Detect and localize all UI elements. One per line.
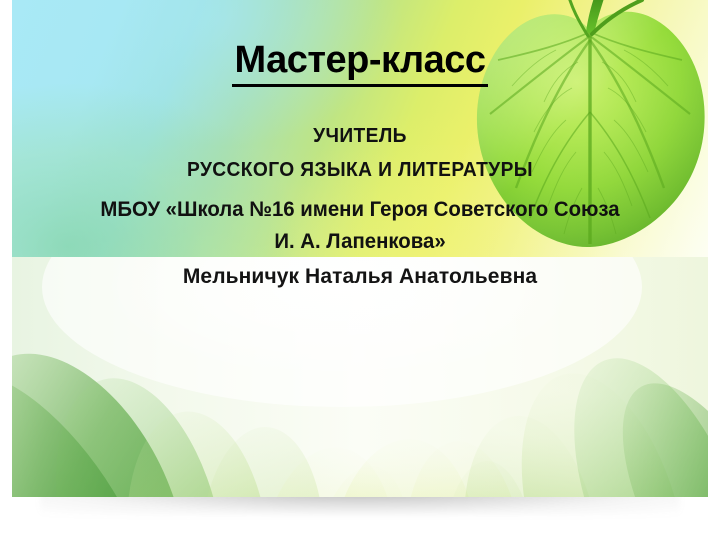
header-gradient-band: [12, 0, 708, 257]
presentation-slide: Мастер-класс УЧИТЕЛЬ РУССКОГО ЯЗЫКА И ЛИ…: [0, 0, 720, 540]
bottom-foliage-decoration: [12, 257, 708, 497]
slide-canvas: Мастер-класс УЧИТЕЛЬ РУССКОГО ЯЗЫКА И ЛИ…: [12, 0, 708, 497]
